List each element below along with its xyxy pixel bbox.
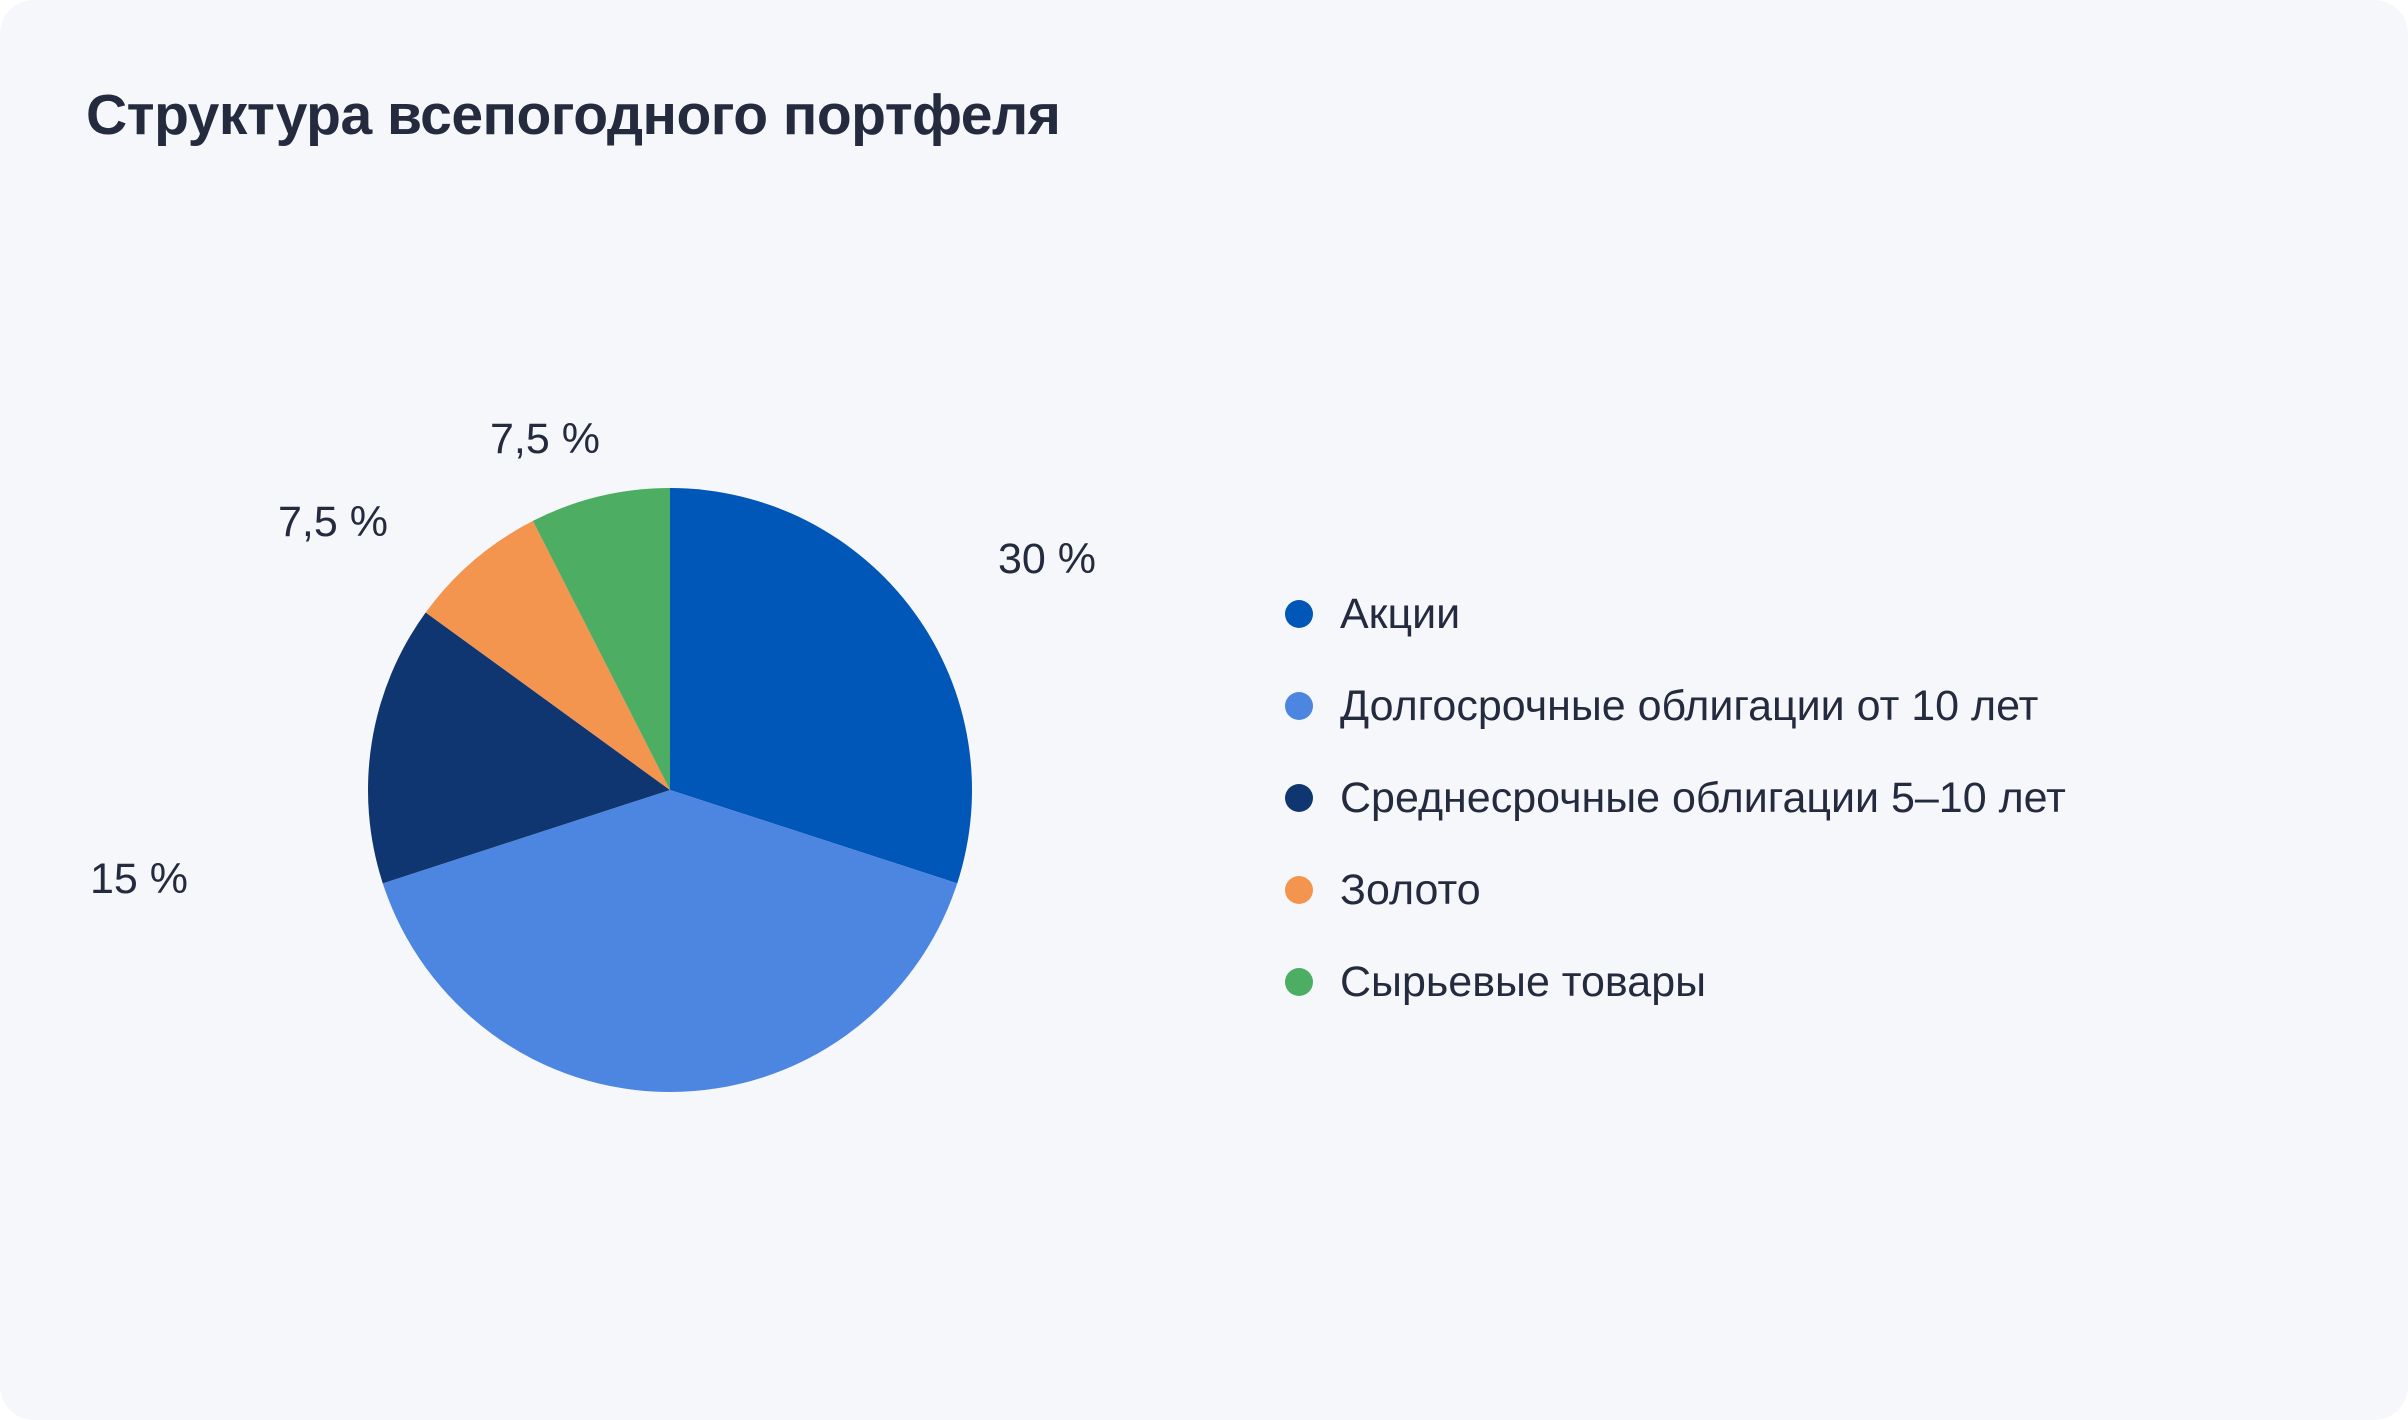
legend-color-dot-icon [1285,876,1313,904]
page-title: Структура всепогодного портфеля [86,82,1060,148]
legend-item-label: Сырьевые товары [1340,961,1706,1004]
chart-legend: АкцииДолгосрочные облигации от 10 летСре… [1285,568,2345,1028]
chart-card: Структура всепогодного портфеля 30 % 40 … [0,0,2408,1420]
legend-item-label: Акции [1340,593,1460,636]
legend-item[interactable]: Золото [1285,844,2345,936]
legend-item-label: Среднесрочные облигации 5–10 лет [1340,777,2066,820]
legend-color-dot-icon [1285,968,1313,996]
legend-item[interactable]: Сырьевые товары [1285,936,2345,1028]
legend-item[interactable]: Акции [1285,568,2345,660]
legend-item-label: Золото [1340,869,1481,912]
legend-color-dot-icon [1285,692,1313,720]
pie-value-label-srednesrochnye: 15 % [90,855,188,904]
pie-value-label-akcii: 30 % [998,535,1096,584]
legend-item-label: Долгосрочные облигации от 10 лет [1340,685,2038,728]
pie-chart-svg [0,150,1250,1380]
legend-color-dot-icon [1285,600,1313,628]
legend-item[interactable]: Среднесрочные облигации 5–10 лет [1285,752,2345,844]
pie-chart: 30 % 40 % 15 % 7,5 % 7,5 % [0,150,1250,1380]
pie-value-label-syrevye: 7,5 % [490,415,600,464]
pie-slice-group [368,488,972,1092]
legend-color-dot-icon [1285,784,1313,812]
pie-value-label-zoloto: 7,5 % [278,498,388,547]
legend-item[interactable]: Долгосрочные облигации от 10 лет [1285,660,2345,752]
